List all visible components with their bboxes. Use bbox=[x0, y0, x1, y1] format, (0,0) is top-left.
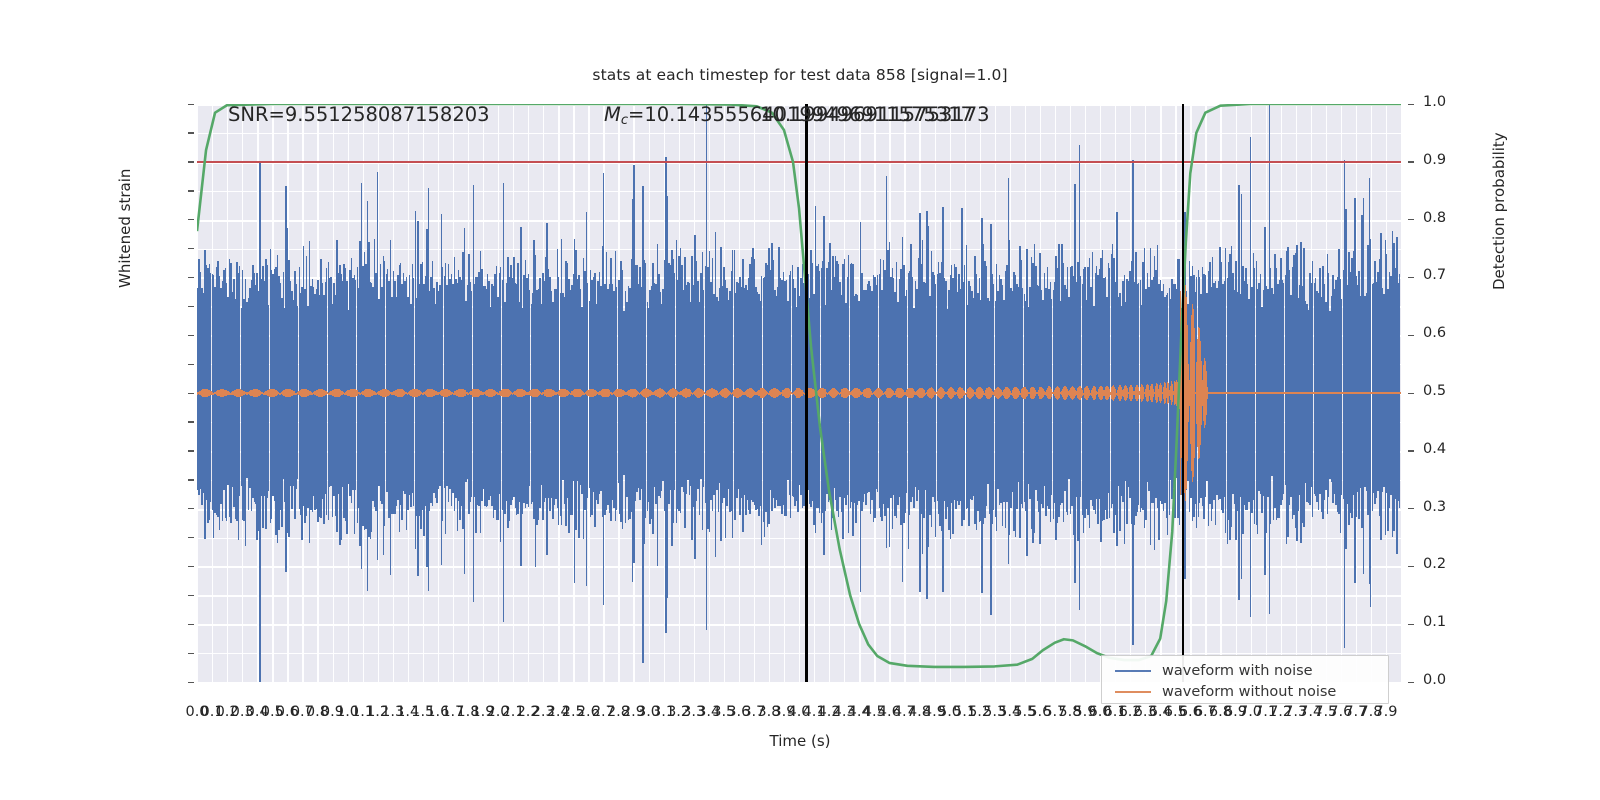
y-tick-mark-left bbox=[188, 682, 194, 683]
y-tick-mark-left bbox=[188, 624, 194, 625]
y-tick-label-right: 0.3 bbox=[1423, 499, 1446, 515]
y-tick-mark-right bbox=[1408, 566, 1414, 567]
y-tick-mark-left bbox=[188, 335, 194, 336]
y-tick-mark-left bbox=[188, 132, 194, 133]
y-tick-label-right: 0.9 bbox=[1423, 152, 1446, 168]
y-tick-mark-right bbox=[1408, 393, 1414, 394]
y-axis-right-label: Detection probability bbox=[1490, 132, 1508, 290]
y-tick-mark-right bbox=[1408, 104, 1414, 105]
y-tick-mark-left bbox=[188, 248, 194, 249]
plot-area[interactable] bbox=[197, 104, 1401, 682]
detection-probability-curve bbox=[197, 104, 1401, 682]
y-tick-mark-right bbox=[1408, 624, 1414, 625]
legend-swatch-orange bbox=[1115, 691, 1151, 694]
y-tick-mark-left bbox=[188, 421, 194, 422]
legend-item-waveform-with-noise[interactable]: waveform with noise bbox=[1115, 660, 1313, 682]
legend-label: waveform without noise bbox=[1162, 684, 1336, 700]
y-tick-mark-left bbox=[188, 508, 194, 509]
legend-item-waveform-without-noise[interactable]: waveform without noise bbox=[1115, 681, 1336, 703]
legend-swatch-blue bbox=[1115, 670, 1151, 673]
y-tick-mark-left bbox=[188, 537, 194, 538]
y-tick-mark-left bbox=[188, 306, 194, 307]
y-tick-label-right: 0.4 bbox=[1423, 441, 1446, 457]
y-tick-mark-left bbox=[188, 190, 194, 191]
y-tick-mark-left bbox=[188, 653, 194, 654]
y-tick-mark-left bbox=[188, 161, 194, 162]
y-tick-mark-right bbox=[1408, 682, 1414, 683]
y-tick-mark-right bbox=[1408, 219, 1414, 220]
y-tick-label-right: 0.6 bbox=[1423, 325, 1446, 341]
legend[interactable]: waveform with noise waveform without noi… bbox=[1101, 655, 1389, 704]
legend-label: waveform with noise bbox=[1162, 663, 1313, 679]
x-axis-label: Time (s) bbox=[0, 732, 1600, 750]
y-tick-mark-left bbox=[188, 104, 194, 105]
y-tick-label-right: 0.0 bbox=[1423, 672, 1446, 688]
figure-canvas: stats at each timestep for test data 858… bbox=[0, 0, 1600, 800]
y-tick-label-right: 0.8 bbox=[1423, 210, 1446, 226]
y-tick-mark-left bbox=[188, 364, 194, 365]
y-tick-mark-left bbox=[188, 479, 194, 480]
y-tick-mark-right bbox=[1408, 450, 1414, 451]
y-tick-label-right: 1.0 bbox=[1423, 94, 1446, 110]
y-axis-left-label: Whitened strain bbox=[116, 169, 134, 288]
y-tick-label-right: 0.2 bbox=[1423, 556, 1446, 572]
y-tick-mark-left bbox=[188, 393, 194, 394]
x-tick-label: 7.9 bbox=[1374, 704, 1397, 720]
snr-annotation: SNR=9.551258087158203 bbox=[228, 103, 490, 126]
chart-title: stats at each timestep for test data 858… bbox=[0, 66, 1600, 84]
y-tick-label-right: 0.1 bbox=[1423, 614, 1446, 630]
y-tick-mark-left bbox=[188, 219, 194, 220]
y-tick-mark-left bbox=[188, 450, 194, 451]
y-tick-mark-left bbox=[188, 277, 194, 278]
y-tick-mark-right bbox=[1408, 161, 1414, 162]
y-tick-label-right: 0.7 bbox=[1423, 267, 1446, 283]
chirp-mass-overlap-annotation: 10.1994969115753173 bbox=[760, 103, 990, 126]
y-tick-label-right: 0.5 bbox=[1423, 383, 1446, 399]
y-tick-mark-right bbox=[1408, 277, 1414, 278]
y-tick-mark-right bbox=[1408, 335, 1414, 336]
y-tick-mark-left bbox=[188, 595, 194, 596]
y-tick-mark-left bbox=[188, 566, 194, 567]
y-tick-mark-right bbox=[1408, 508, 1414, 509]
